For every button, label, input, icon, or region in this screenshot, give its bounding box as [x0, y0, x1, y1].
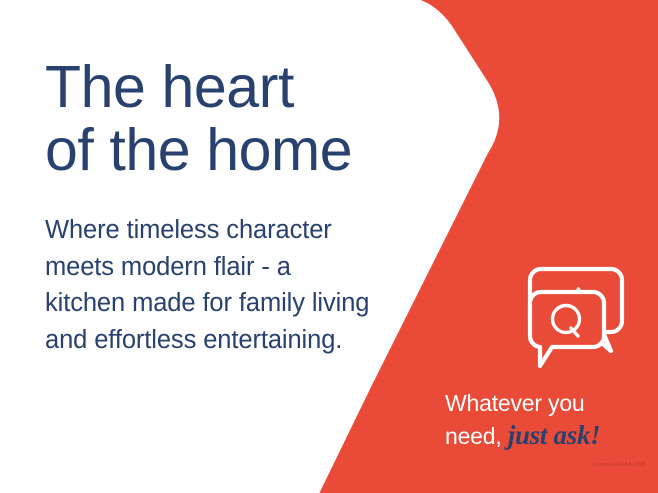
- qa-speech-bubbles-icon: [519, 265, 631, 370]
- tagline-accent: just ask!: [508, 420, 601, 450]
- tagline-line-2-plain: need,: [445, 423, 502, 449]
- tagline: Whatever you need, just ask!: [445, 389, 650, 452]
- tagline-line-1: Whatever you: [445, 390, 585, 416]
- page-title: The heart of the home: [45, 56, 375, 182]
- copy-block: The heart of the home Where timeless cha…: [45, 56, 375, 358]
- subheading-text: Where timeless character meets modern fl…: [45, 212, 375, 358]
- marketing-banner: The heart of the home Where timeless cha…: [0, 0, 658, 493]
- fineprint-disclaimer: Licensed REAA 2008: [545, 462, 645, 468]
